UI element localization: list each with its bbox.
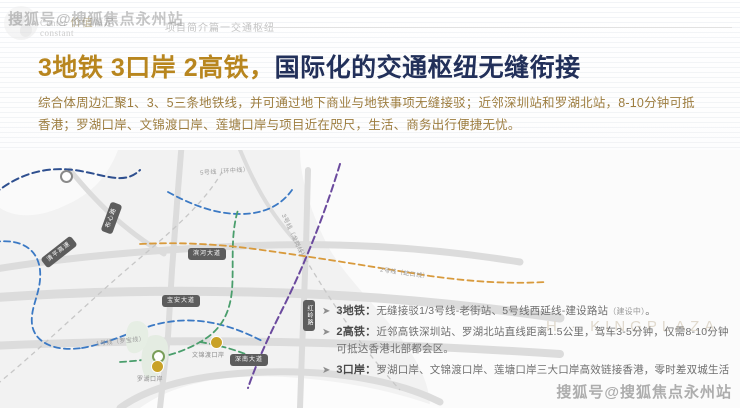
title-gold: 3地铁 3口岸 2高铁， [38,54,275,82]
bullet-text: 无缝接驳1/3号线-老街站、5号线西延线-建设路站 [376,305,608,317]
brand-en-small: Center [40,18,67,28]
bullet-key: 2高铁： [336,326,376,338]
slide-header: Center 价值恒定 constant 项目简介篇一交通枢纽 [0,0,740,44]
intro-paragraph: 综合体周边汇聚1、3、5三条地铁线，并可通过地下商业与地铁事项无缝接驳；近邻深圳… [38,92,704,136]
metro-station-marker[interactable] [60,170,73,183]
chevron-right-icon: ➤ [322,303,330,320]
bullet-key: 3地铁： [336,305,376,317]
chevron-right-icon: ➤ [322,324,330,341]
title-navy: 国际化的交通枢纽无缝衔接 [275,54,581,82]
bullet-note: （建设中） [608,307,645,316]
chevron-right-icon: ➤ [322,362,330,379]
road-plate: 滨河大道 [188,248,226,260]
header-subtitle: 项目简介篇一交通枢纽 [165,19,275,34]
poi-marker-wenjindu-port[interactable] [210,336,223,349]
bullet-tail: 。 [645,305,656,317]
road-plate: 宝安大道 [162,295,200,307]
slide-root: Center 价值恒定 constant 项目简介篇一交通枢纽 3地铁 3口岸 … [0,0,740,408]
road-plate: 深南大道 [230,354,268,366]
list-item: ➤ 3地铁：无缝接驳1/3号线-老街站、5号线西延线-建设路站（建设中）。 [322,303,732,320]
bullet-key: 3口岸： [336,364,376,376]
poi-label: 文锦渡口岸 [192,350,225,359]
list-item: ➤ 3口岸：罗湖口岸、文锦渡口岸、莲塘口岸三大口岸高效链接香港，零时差双城生活 [322,362,732,379]
header-divider [262,27,732,28]
brand-en: constant [40,28,114,38]
bullet-text: 近邻高铁深圳站、罗湖北站直线距离1.5公里，驾车3-5分钟，仅需8-10分钟可抵… [336,326,728,355]
list-item: ➤ 2高铁：近邻高铁深圳站、罗湖北站直线距离1.5公里，驾车3-5分钟，仅需8-… [322,324,732,358]
brand-fixed: 恒定 [93,18,114,29]
globe-icon [4,6,38,40]
bullet-list: ➤ 3地铁：无缝接驳1/3号线-老街站、5号线西延线-建设路站（建设中）。 ➤ … [322,303,732,383]
brand-logo: Center 价值恒定 constant [40,14,114,38]
road-plate: 红岭路 [303,300,315,331]
bullet-text: 罗湖口岸、文锦渡口岸、莲塘口岸三大口岸高效链接香港，零时差双城生活 [376,364,729,376]
poi-label: 罗湖口岸 [137,374,163,383]
poi-marker-luohu-port[interactable] [151,360,164,373]
page-title: 3地铁 3口岸 2高铁，国际化的交通枢纽无缝衔接 [38,48,581,84]
